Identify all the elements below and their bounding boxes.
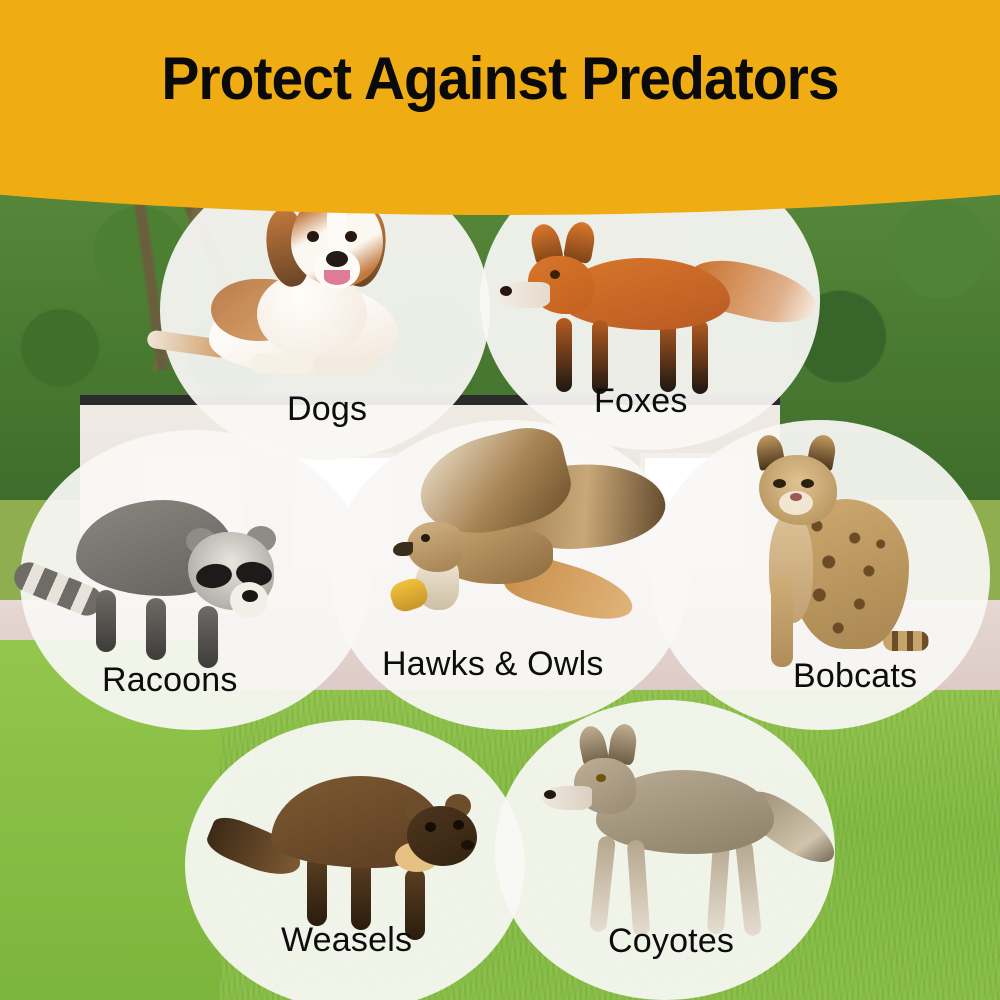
- weasel-head-icon: [407, 806, 477, 866]
- weasel-eye-icon: [425, 822, 436, 832]
- raccoon-leg-icon: [198, 606, 218, 668]
- caption-foxes: Foxes: [594, 382, 688, 421]
- dog-leg-icon: [313, 355, 375, 375]
- caption-racoons: Racoons: [102, 661, 238, 700]
- caption-weasels: Weasels: [281, 921, 412, 960]
- card-bobcats-art: [735, 425, 965, 665]
- raccoon-nose-icon: [242, 590, 258, 602]
- raccoon-leg-icon: [146, 598, 166, 660]
- hawk-head-icon: [407, 522, 463, 572]
- card-coyotes-art: [560, 712, 850, 922]
- page-title: Protect Against Predators: [25, 44, 975, 113]
- card-hawks-art: [385, 430, 675, 630]
- card-racoons-art: [70, 478, 320, 678]
- hawk-eye-icon: [421, 534, 430, 542]
- dog-nose-icon: [326, 251, 348, 267]
- coyote-eye-icon: [596, 774, 606, 782]
- bobcat-nose-icon: [790, 493, 802, 501]
- bobcat-eye-icon: [773, 479, 786, 488]
- dog-eye-icon: [307, 231, 319, 242]
- weasel-nose-icon: [461, 840, 474, 850]
- dog-mouth-icon: [324, 270, 350, 285]
- predator-poster: Dogs Foxes Racoons Hawks & Owls Bobcats …: [0, 0, 1000, 1000]
- dog-leg-icon: [251, 353, 313, 373]
- fox-eye-icon: [550, 270, 560, 279]
- caption-dogs: Dogs: [287, 390, 367, 429]
- dog-eye-icon: [345, 231, 357, 242]
- bobcat-eye-icon: [801, 479, 814, 488]
- bobcat-tail-icon: [883, 631, 929, 651]
- coyote-leg-icon: [589, 835, 616, 932]
- caption-bobcats: Bobcats: [793, 657, 917, 696]
- fox-leg-icon: [692, 320, 708, 394]
- card-foxes-art: [520, 200, 830, 400]
- weasel-leg-icon: [307, 854, 327, 926]
- caption-hawks-owls: Hawks & Owls: [382, 645, 604, 684]
- weasel-eye-icon: [453, 820, 464, 830]
- header-band: Protect Against Predators: [0, 0, 1000, 215]
- raccoon-leg-icon: [96, 590, 116, 652]
- bobcat-leg-icon: [771, 575, 793, 667]
- card-weasels-art: [255, 742, 505, 932]
- hawk-beak-icon: [393, 542, 413, 556]
- caption-coyotes: Coyotes: [608, 922, 734, 961]
- fox-leg-icon: [556, 318, 572, 392]
- weasel-leg-icon: [351, 858, 371, 930]
- coyote-nose-icon: [544, 790, 556, 799]
- fox-nose-icon: [500, 286, 512, 296]
